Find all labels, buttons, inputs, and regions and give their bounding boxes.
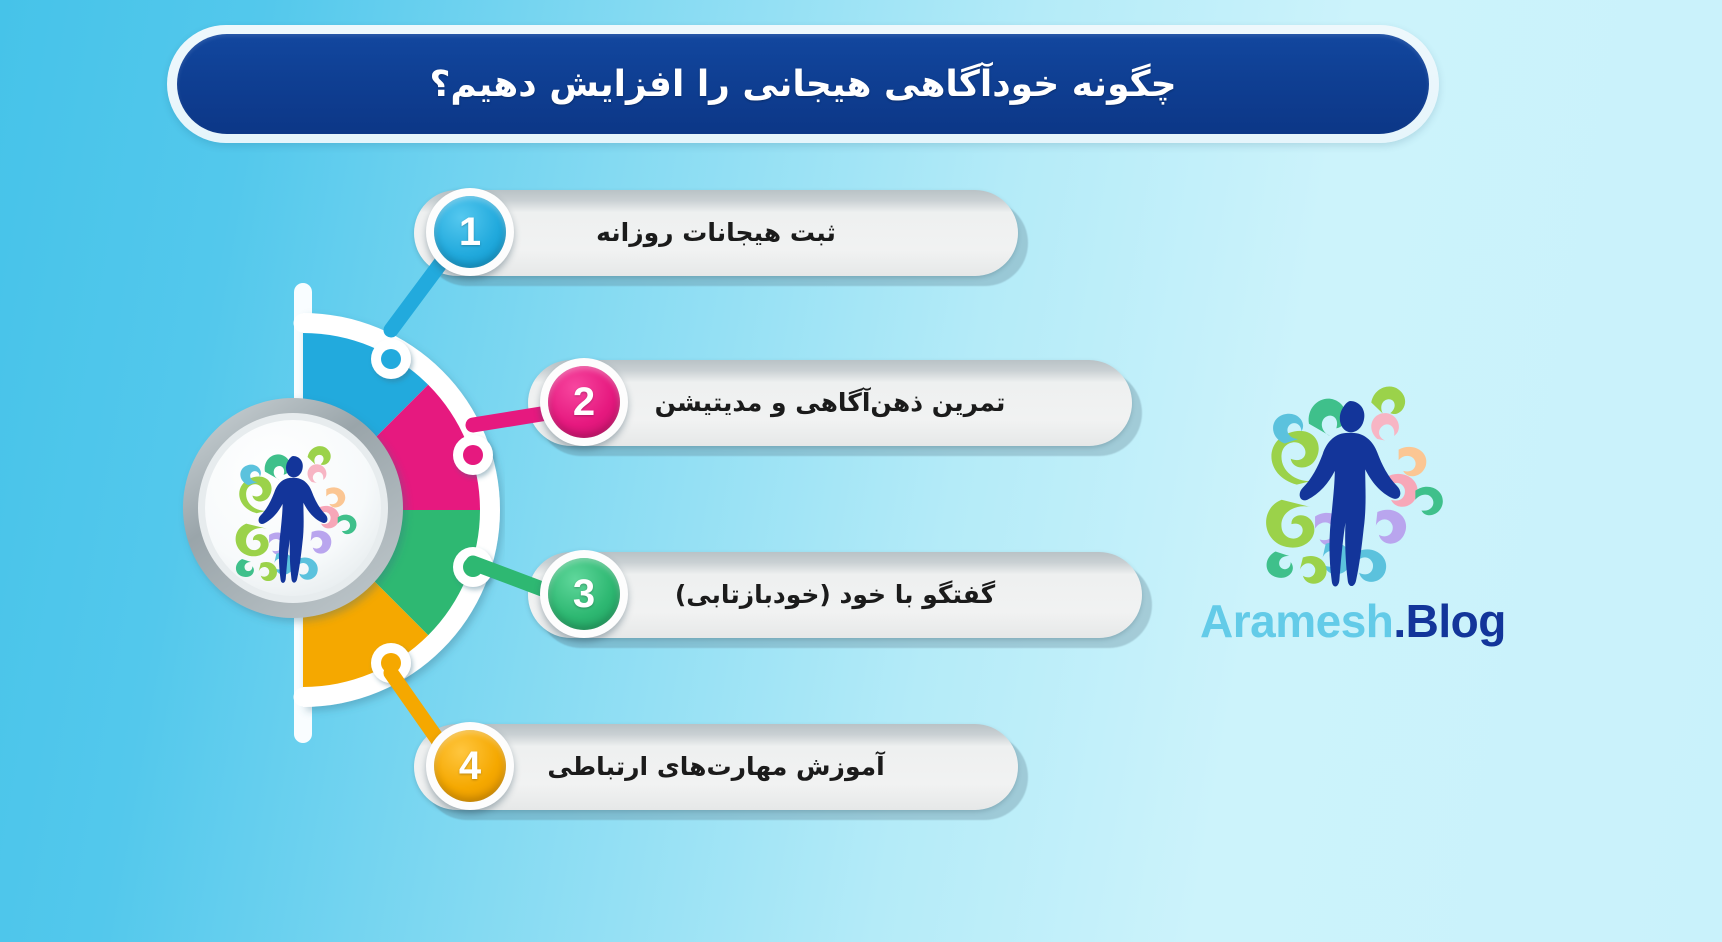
aramesh-logo-mark — [1200, 362, 1500, 592]
wheel-node-1 — [371, 339, 411, 379]
step-label: گفتگو با خود (خودبازتابی) — [675, 580, 995, 611]
step-number-badge-2[interactable]: 2 — [540, 358, 628, 446]
step-row-4[interactable]: آموزش مهارت‌های ارتباطی 4 — [414, 724, 1018, 820]
step-row-1[interactable]: ثبت هیجانات روزانه 1 — [414, 190, 1018, 286]
brand-logo: Aramesh.Blog — [1200, 362, 1520, 642]
step-number: 2 — [573, 382, 595, 422]
step-number: 3 — [573, 574, 595, 614]
wheel-node-4 — [371, 643, 411, 683]
step-label: آموزش مهارت‌های ارتباطی — [547, 752, 884, 783]
title-banner: چگونه خودآگاهی هیجانی را افزایش دهیم؟ — [177, 34, 1429, 134]
step-number-badge-1[interactable]: 1 — [426, 188, 514, 276]
step-label: تمرین ذهن‌آگاهی و مدیتیشن — [655, 388, 1006, 419]
step-number-badge-3[interactable]: 3 — [540, 550, 628, 638]
page-title: چگونه خودآگاهی هیجانی را افزایش دهیم؟ — [429, 64, 1176, 105]
step-row-3[interactable]: گفتگو با خود (خودبازتابی) 3 — [528, 552, 1142, 648]
brand-wordmark: Aramesh.Blog — [1200, 594, 1500, 648]
wheel-node-2 — [453, 435, 493, 475]
step-number: 4 — [459, 746, 481, 786]
brand-dot: . — [1393, 595, 1405, 647]
brand-name-primary: Aramesh — [1200, 595, 1393, 647]
step-number-badge-4[interactable]: 4 — [426, 722, 514, 810]
step-label: ثبت هیجانات روزانه — [596, 218, 836, 249]
title-banner-frame: چگونه خودآگاهی هیجانی را افزایش دهیم؟ — [167, 25, 1439, 143]
segmented-wheel — [175, 255, 505, 765]
brand-name-secondary: Blog — [1406, 595, 1506, 647]
wheel-node-3 — [453, 547, 493, 587]
step-number: 1 — [459, 212, 481, 252]
step-row-2[interactable]: تمرین ذهن‌آگاهی و مدیتیشن 2 — [528, 360, 1132, 456]
